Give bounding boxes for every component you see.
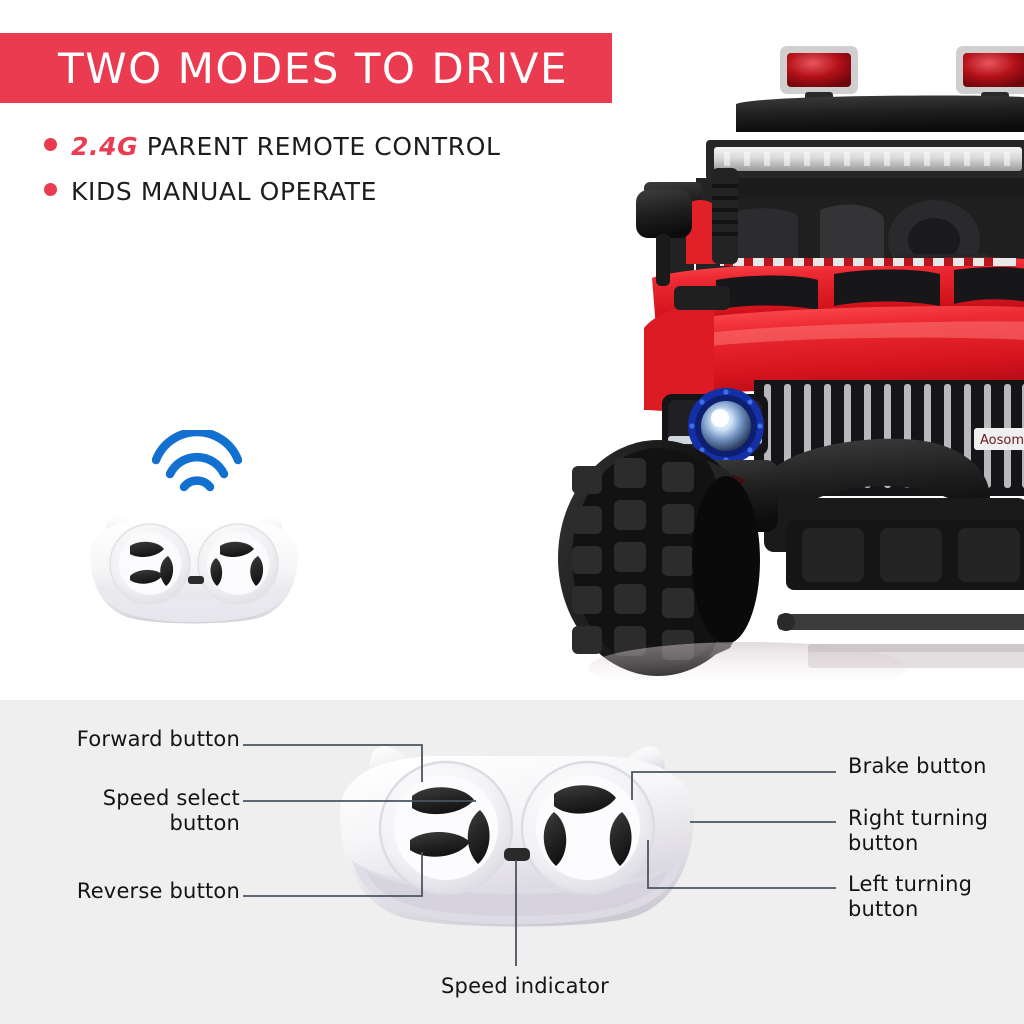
feature-body-2: KIDS MANUAL OPERATE [71, 177, 377, 206]
callout-brake-button: Brake button [848, 754, 1024, 779]
svg-text:Aosom: Aosom [980, 433, 1024, 448]
feature-accent-1: 2.4G [71, 132, 138, 161]
feature-body-1: PARENT REMOTE CONTROL [138, 132, 500, 161]
remote-control-photo [78, 498, 310, 630]
front-wheel [558, 440, 760, 676]
top-section: TWO MODES TO DRIVE 2.4G PARENT REMOTE CO… [0, 0, 1024, 700]
infographic-page: TWO MODES TO DRIVE 2.4G PARENT REMOTE CO… [0, 0, 1024, 1024]
callout-reverse-button: Reverse button [20, 879, 240, 904]
callout-forward-button: Forward button [20, 727, 240, 752]
wifi-signal-icon [152, 430, 242, 492]
ride-on-truck-image: Aosom [468, 28, 1024, 680]
led-light-bar [706, 140, 1024, 180]
bullet-dot-icon [44, 183, 57, 196]
callout-speed-indicator: Speed indicator [400, 974, 650, 999]
callout-right-turning-button: Right turning button [848, 806, 1024, 855]
roof-marker-light [956, 46, 1024, 104]
feature-text-1: 2.4G PARENT REMOTE CONTROL [71, 132, 501, 161]
feature-text-2: KIDS MANUAL OPERATE [71, 177, 377, 206]
snorkel [712, 168, 738, 264]
bullet-dot-icon [44, 138, 57, 151]
speed-indicator-led [504, 848, 530, 861]
callout-left-turning-button: Left turning button [848, 872, 1024, 921]
remote-control-diagram [322, 720, 712, 930]
callout-diagram-section: Forward button Speed select button Rever… [0, 700, 1024, 1024]
callout-speed-select-button: Speed select button [20, 786, 240, 835]
roof-marker-light [780, 46, 858, 104]
